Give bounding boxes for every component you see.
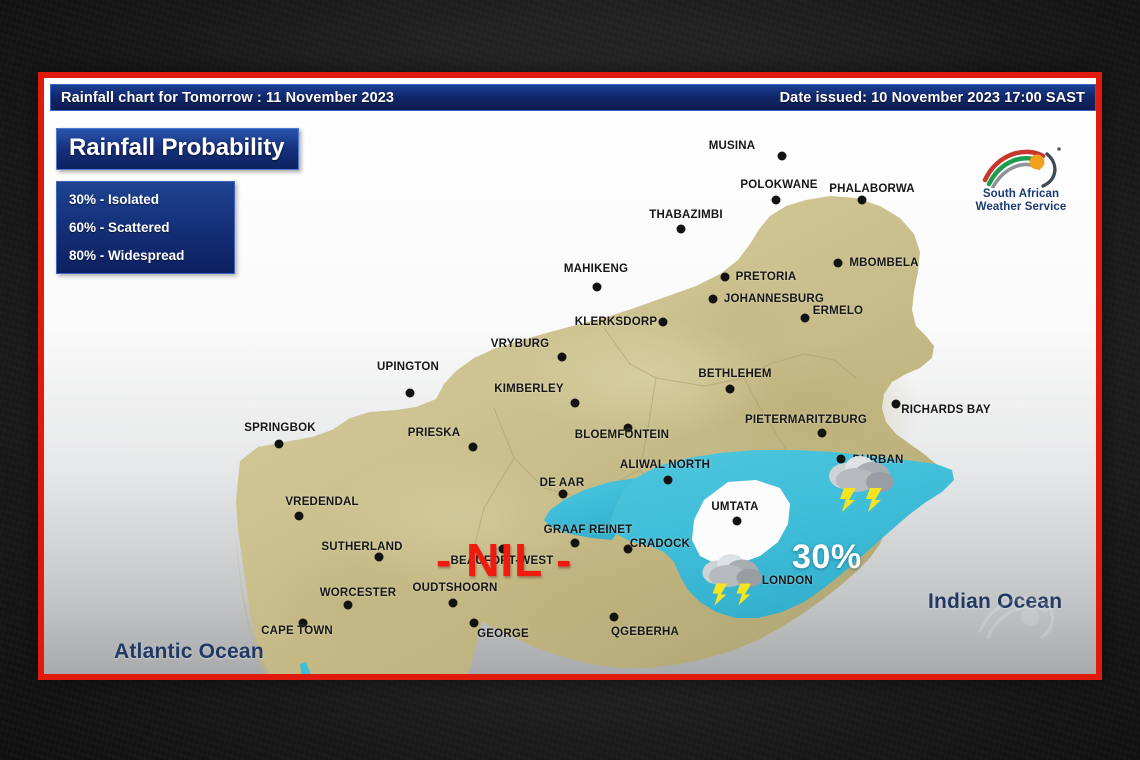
- atlantic-ocean-label: Atlantic Ocean: [114, 640, 264, 664]
- city-dot: [818, 429, 827, 438]
- city-label: THABAZIMBI: [649, 209, 723, 221]
- city-label: VREDENDAL: [285, 496, 358, 508]
- thunderstorm-icon-kzn: [822, 450, 898, 517]
- city-label: SUTHERLAND: [321, 541, 402, 553]
- city-dot: [778, 152, 787, 161]
- sun-icon: [1030, 155, 1045, 170]
- thunderstorm-icon-eastern-cape: [696, 548, 766, 611]
- city-dot: [677, 225, 686, 234]
- city-label: MAHIKENG: [564, 263, 628, 275]
- city-dot: [571, 399, 580, 408]
- city-label: POLOKWANE: [740, 179, 817, 191]
- city-label: KLERKSDORP: [575, 316, 658, 328]
- city-dot: [610, 613, 619, 622]
- city-label: MBOMBELA: [849, 257, 918, 269]
- city-label: MUSINA: [709, 140, 756, 152]
- city-label: UMTATA: [711, 501, 758, 513]
- city-dot: [721, 273, 730, 282]
- city-label: SPRINGBOK: [244, 422, 315, 434]
- city-dot: [295, 512, 304, 521]
- city-label: PRETORIA: [736, 271, 797, 283]
- city-label: UPINGTON: [377, 361, 439, 373]
- city-dot: [726, 385, 735, 394]
- city-dot: [892, 400, 901, 409]
- city-dot: [858, 196, 867, 205]
- city-dot: [449, 599, 458, 608]
- city-label: CRADOCK: [630, 538, 690, 550]
- city-label: RICHARDS BAY: [901, 404, 991, 416]
- city-label: VRYBURG: [491, 338, 549, 350]
- legend-title-text: Rainfall Probability: [69, 134, 284, 161]
- city-label: PIETERMARITZBURG: [745, 414, 867, 426]
- city-label: PRIESKA: [408, 427, 461, 439]
- logo-line-1: South African: [960, 188, 1082, 201]
- city-dot: [559, 490, 568, 499]
- saws-watermark: [968, 587, 1056, 652]
- city-label: DE AAR: [540, 477, 585, 489]
- saws-logo-mark: [975, 144, 1067, 188]
- city-label: CAPE TOWN: [261, 625, 333, 637]
- city-dot: [733, 517, 742, 526]
- legend-items-box: 30% - Isolated 60% - Scattered 80% - Wid…: [56, 181, 235, 274]
- city-dot: [275, 440, 284, 449]
- city-label: PHALABORWA: [829, 183, 914, 195]
- city-dot: [375, 553, 384, 562]
- city-dot: [470, 619, 479, 628]
- legend-item-isolated: 30% - Isolated: [69, 192, 224, 207]
- city-dot: [344, 601, 353, 610]
- city-label: JOHANNESBURG: [724, 293, 824, 305]
- city-label: QGEBERHA: [611, 626, 679, 638]
- chart-title-bar: Rainfall chart for Tomorrow : 11 Novembe…: [50, 84, 1096, 111]
- city-label: BETHLEHEM: [698, 368, 771, 380]
- legend-title-box: Rainfall Probability: [56, 128, 299, 170]
- city-dot: [834, 259, 843, 268]
- city-dot: [664, 476, 673, 485]
- city-label: ALIWAL NORTH: [620, 459, 710, 471]
- city-dot: [659, 318, 668, 327]
- logo-line-2: Weather Service: [960, 201, 1082, 214]
- chart-canvas: MUSINAPOLOKWANEPHALABORWATHABAZIMBIMBOMB…: [44, 78, 1096, 674]
- chart-title-right: Date issued: 10 November 2023 17:00 SAST: [780, 90, 1085, 106]
- city-dot: [709, 295, 718, 304]
- city-dot: [593, 283, 602, 292]
- city-label: GEORGE: [477, 628, 529, 640]
- nil-annotation: - NIL -: [436, 533, 572, 587]
- city-dot: [558, 353, 567, 362]
- chart-title-left: Rainfall chart for Tomorrow : 11 Novembe…: [61, 90, 394, 106]
- city-dot: [469, 443, 478, 452]
- city-dot: [801, 314, 810, 323]
- city-label: KIMBERLEY: [494, 383, 564, 395]
- city-label: WORCESTER: [320, 587, 397, 599]
- legend-item-widespread: 80% - Widespread: [69, 248, 224, 263]
- city-label: ERMELO: [813, 305, 863, 317]
- city-dot: [406, 389, 415, 398]
- rainfall-chart-frame: MUSINAPOLOKWANEPHALABORWATHABAZIMBIMBOMB…: [38, 72, 1102, 680]
- saws-logo: South African Weather Service: [960, 144, 1082, 214]
- legend-item-scattered: 60% - Scattered: [69, 220, 224, 235]
- city-label: BLOEMFONTEIN: [575, 429, 669, 441]
- probability-annotation: 30%: [792, 538, 862, 577]
- city-dot: [772, 196, 781, 205]
